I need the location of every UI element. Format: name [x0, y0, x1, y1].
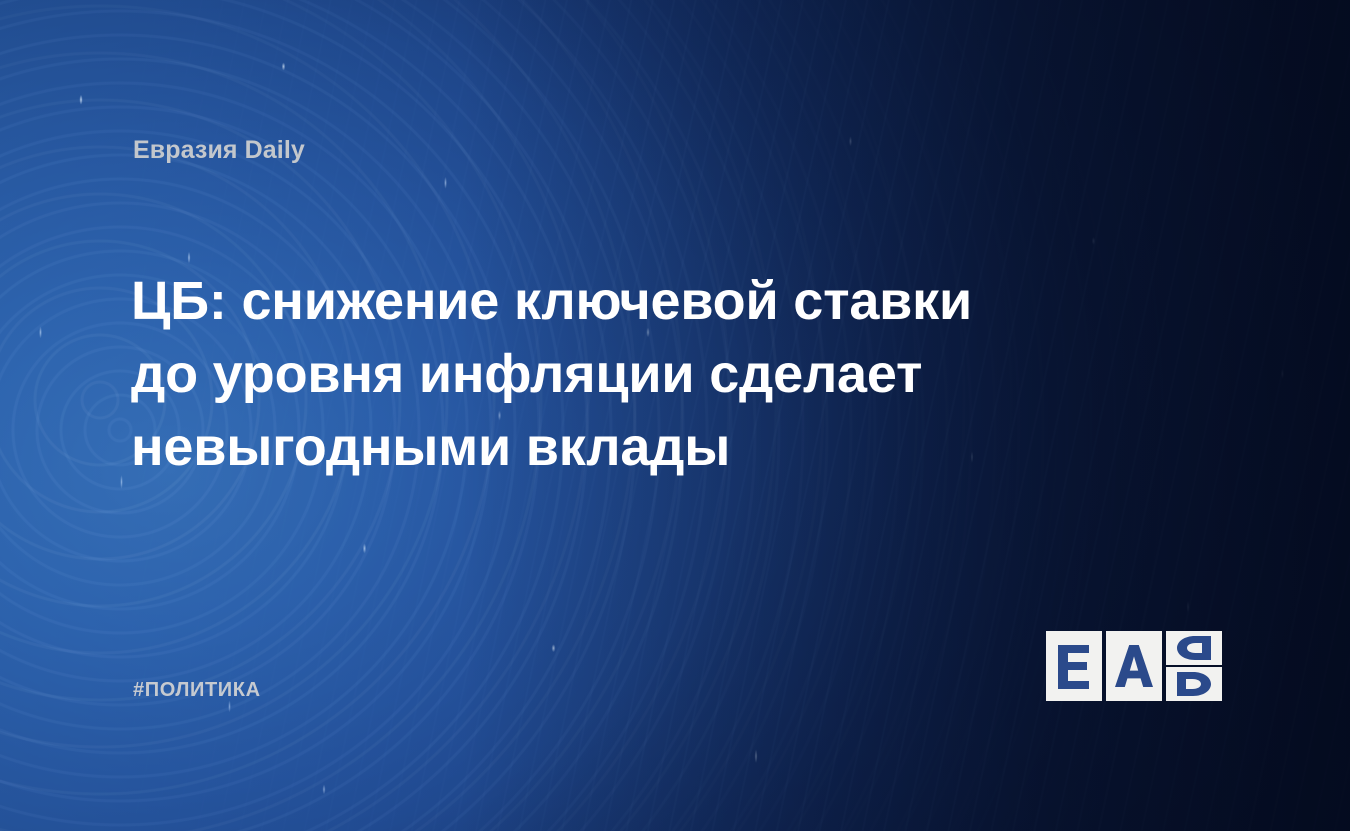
headline-line: невыгодными вклады	[131, 411, 1031, 484]
eadaily-logo[interactable]	[1046, 631, 1222, 701]
logo-tile-column-d	[1166, 631, 1222, 701]
letter-a-icon	[1114, 643, 1154, 689]
headline-line: до уровня инфляции сделает	[131, 338, 1031, 411]
page-title: ЦБ: снижение ключевой ставки до уровня и…	[131, 265, 1031, 484]
logo-tile-d-top	[1166, 631, 1222, 665]
site-name: Евразия Daily	[133, 136, 305, 165]
headline-line: ЦБ: снижение ключевой ставки	[131, 265, 1031, 338]
letter-e-icon	[1056, 643, 1092, 689]
news-card: Евразия Daily ЦБ: снижение ключевой став…	[0, 0, 1350, 831]
card-content: Евразия Daily ЦБ: снижение ключевой став…	[0, 0, 1350, 831]
letter-d-rotated-icon	[1173, 635, 1215, 661]
letter-d-flipped-icon	[1173, 671, 1215, 697]
logo-tile-d-bottom	[1166, 667, 1222, 701]
logo-tile-e	[1046, 631, 1102, 701]
category-tag[interactable]: #ПОЛИТИКА	[133, 679, 261, 702]
logo-tile-a	[1106, 631, 1162, 701]
